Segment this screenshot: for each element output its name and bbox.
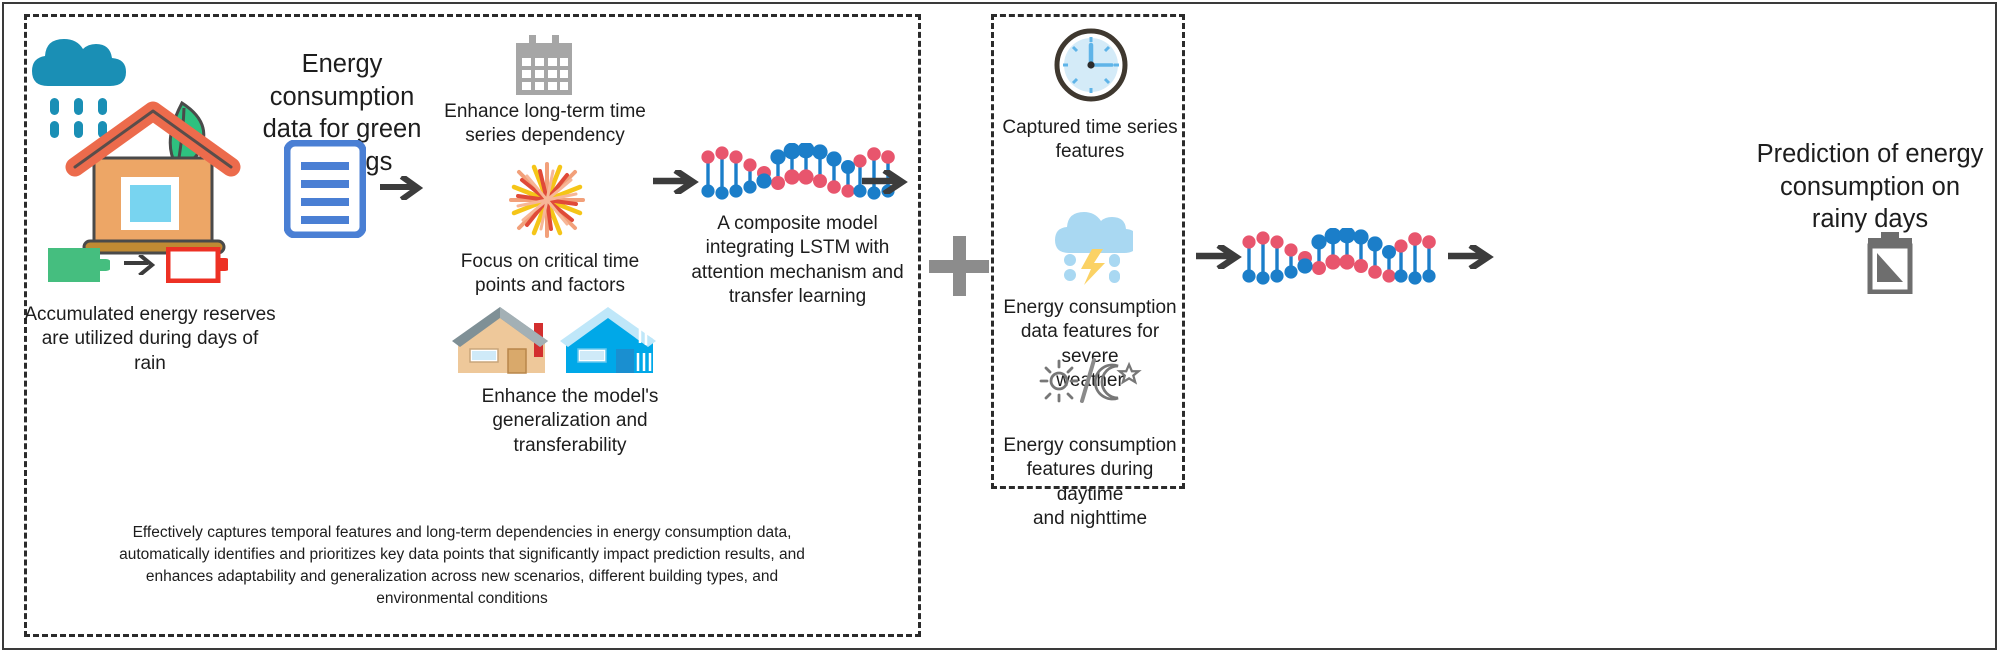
right-item-label-0: Captured time series features (1000, 116, 1180, 165)
model-label: A composite model integrating LSTM with … (680, 212, 915, 309)
plus-icon (929, 236, 989, 296)
storm-cloud-icon (1051, 203, 1133, 285)
feature-label-1: Focus on critical time points and factor… (445, 250, 655, 299)
battery-empty-icon (166, 247, 228, 283)
arrow-right-icon (124, 255, 158, 275)
summary-text: Effectively captures temporal features a… (32, 522, 892, 610)
arrow-right-icon (1196, 245, 1244, 269)
sun-moon-icon (1039, 357, 1143, 403)
arrow-right-icon (380, 176, 426, 200)
twin-houses-icon (448, 305, 658, 377)
arrow-right-icon (1448, 245, 1496, 269)
arrow-right-icon (862, 170, 910, 194)
calendar-icon (513, 35, 575, 97)
green-building-house-icon (60, 95, 250, 265)
document-lines-icon (284, 140, 366, 238)
battery-full-icon (48, 248, 110, 282)
feature-label-0: Enhance long-term time series dependency (440, 100, 650, 149)
battery-caption: Accumulated energy reserves are utilized… (20, 303, 280, 376)
feature-label-2: Enhance the model's generalization and t… (445, 385, 695, 458)
firework-burst-icon (505, 158, 589, 242)
right-item-label-2: Energy consumption features during dayti… (998, 434, 1182, 531)
arrow-right-icon (653, 170, 701, 194)
battery-partial-icon (1866, 232, 1914, 294)
clock-icon (1053, 27, 1129, 103)
diagram-canvas: Accumulated energy reserves are utilized… (0, 0, 2001, 654)
dna-helix-icon (1241, 228, 1437, 288)
output-label: Prediction of energy consumption on rain… (1745, 138, 1995, 236)
